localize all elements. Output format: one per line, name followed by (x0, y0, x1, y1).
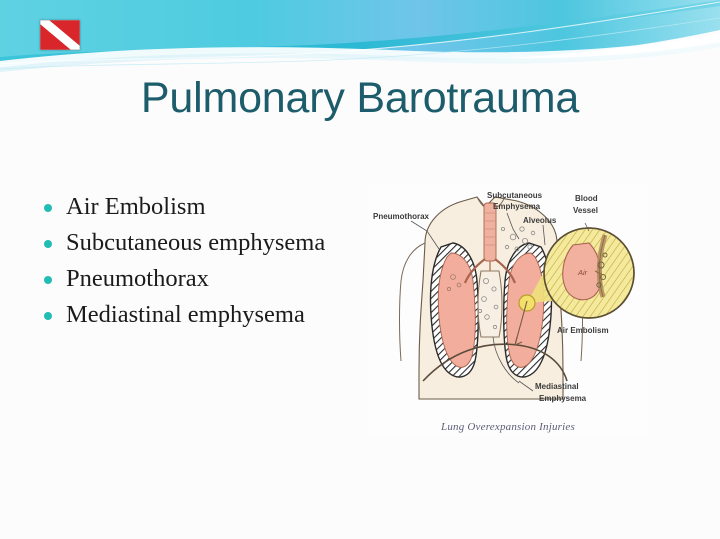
label-pneumothorax: Pneumothorax (373, 212, 430, 221)
dive-flag-icon (40, 20, 80, 50)
bullet-dot-icon (44, 204, 52, 212)
label-subcutaneous-emphysema-1: Subcutaneous (487, 191, 543, 200)
label-blood-vessel-2: Vessel (573, 206, 598, 215)
bullet-dot-icon (44, 276, 52, 284)
lung-overexpansion-diagram: Pneumothorax Subcutaneous Emphysema Alve… (367, 185, 649, 437)
bullet-dot-icon (44, 312, 52, 320)
header-swoosh-graphic (0, 0, 720, 72)
label-blood-vessel-1: Blood (575, 194, 598, 203)
list-item-label: Subcutaneous emphysema (66, 229, 325, 256)
list-item: Air Embolism (36, 191, 336, 222)
diagram-caption: Lung Overexpansion Injuries (367, 421, 649, 433)
symptom-bullet-list: Air Embolism Subcutaneous emphysema Pneu… (36, 191, 336, 335)
label-subcutaneous-emphysema-2: Emphysema (493, 202, 541, 211)
list-item-label: Pneumothorax (66, 265, 209, 292)
bullet-dot-icon (44, 240, 52, 248)
label-mediastinal-emphysema-2: Emphysema (539, 394, 587, 403)
label-air: Air (577, 268, 588, 277)
diagram-graphic: Pneumothorax Subcutaneous Emphysema Alve… (367, 185, 649, 437)
dive-flag-graphic (40, 20, 80, 50)
list-item: Pneumothorax (36, 263, 336, 294)
list-item-label: Mediastinal emphysema (66, 301, 305, 328)
label-alveolus: Alveolus (523, 216, 557, 225)
label-air-embolism: Air Embolism (557, 326, 609, 335)
header-decoration (0, 0, 720, 72)
page-title: Pulmonary Barotrauma (0, 72, 720, 124)
label-mediastinal-emphysema-1: Mediastinal (535, 382, 579, 391)
list-item-label: Air Embolism (66, 193, 206, 220)
list-item: Mediastinal emphysema (36, 299, 336, 330)
list-item: Subcutaneous emphysema (36, 227, 336, 258)
presentation-slide: Pulmonary Barotrauma Air Embolism Subcut… (0, 0, 720, 539)
